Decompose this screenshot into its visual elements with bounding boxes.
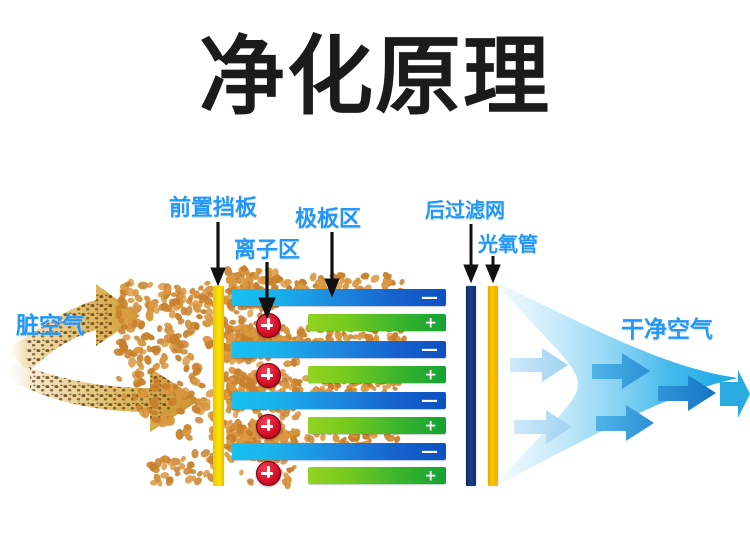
collector-plate-negative: —: [232, 289, 446, 306]
dirty-air-arrow-lower: [2, 358, 200, 432]
pointer-arrow-uv-tube: [486, 256, 500, 282]
page-title: 净化原理: [0, 34, 750, 120]
label-pre-baffle: 前置挡板: [169, 190, 257, 222]
pre-baffle-plate: [213, 286, 224, 486]
minus-sign-icon: —: [421, 341, 437, 358]
uv-tube-bar: [488, 286, 498, 486]
clean-air-arrows: [510, 348, 750, 444]
pointer-arrow-plate-zone: [325, 232, 339, 296]
collector-plate-negative: —: [232, 443, 446, 460]
pointer-arrow-post-filter: [464, 224, 478, 282]
label-clean-air: 干净空气: [621, 310, 713, 344]
label-uv-tube: 光氧管: [478, 228, 538, 257]
clean-air-graphic: [486, 272, 750, 496]
collector-plate-positive: +: [308, 314, 446, 331]
label-post-filter: 后过滤网: [425, 194, 505, 223]
pointer-arrow-pre-baffle: [211, 222, 225, 285]
collector-plate-positive: +: [308, 366, 446, 383]
minus-sign-icon: —: [421, 289, 437, 306]
plus-ion-icon: [256, 313, 281, 338]
collector-plate-negative: —: [232, 341, 446, 358]
post-filter-bar: [466, 286, 476, 486]
plus-sign-icon: +: [424, 315, 437, 330]
minus-sign-icon: —: [421, 392, 437, 409]
plus-sign-icon: +: [424, 468, 437, 483]
label-dirty-air: 脏空气: [16, 306, 85, 340]
label-plate-zone: 极板区: [295, 201, 361, 233]
collector-plate-negative: —: [232, 392, 446, 409]
plus-ion-icon: [256, 414, 281, 439]
diagram-canvas: 净化原理: [0, 0, 750, 541]
label-ion-zone: 离子区: [234, 232, 300, 264]
plus-ion-icon: [256, 461, 281, 486]
plus-sign-icon: +: [424, 418, 437, 433]
minus-sign-icon: —: [421, 443, 437, 460]
plus-sign-icon: +: [424, 367, 437, 382]
plus-ion-icon: [256, 363, 281, 388]
collector-plate-positive: +: [308, 467, 446, 484]
collector-plate-positive: +: [308, 417, 446, 434]
